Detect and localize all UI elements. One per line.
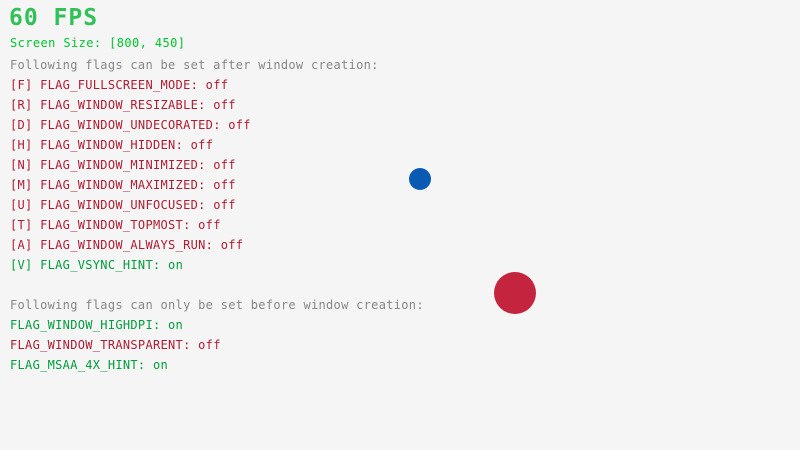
flag-separator: : xyxy=(191,78,206,92)
flag-name-label: FLAG_WINDOW_RESIZABLE xyxy=(40,98,198,112)
flag-name-label: FLAG_MSAA_4X_HINT xyxy=(10,358,138,372)
flag-row[interactable]: [A] FLAG_WINDOW_ALWAYS_RUN: off xyxy=(10,238,243,252)
flag-shortcut-key: [M] xyxy=(10,178,40,192)
flag-row[interactable]: [T] FLAG_WINDOW_TOPMOST: off xyxy=(10,218,221,232)
flag-shortcut-key: [T] xyxy=(10,218,40,232)
flag-separator: : xyxy=(198,158,213,172)
flag-name-label: FLAG_WINDOW_UNFOCUSED xyxy=(40,198,198,212)
flag-separator: : xyxy=(153,258,168,272)
flag-separator: : xyxy=(138,358,153,372)
flag-state-value: off xyxy=(213,98,236,112)
raylib-window-canvas: 60 FPS Screen Size: [800, 450] Following… xyxy=(0,0,800,450)
flag-separator: : xyxy=(198,178,213,192)
flag-name-label: FLAG_WINDOW_MAXIMIZED xyxy=(40,178,198,192)
flag-separator: : xyxy=(183,338,198,352)
flag-name-label: FLAG_FULLSCREEN_MODE xyxy=(40,78,191,92)
flag-state-value: off xyxy=(206,78,229,92)
flag-row[interactable]: [H] FLAG_WINDOW_HIDDEN: off xyxy=(10,138,213,152)
flag-row[interactable]: [N] FLAG_WINDOW_MINIMIZED: off xyxy=(10,158,236,172)
flag-shortcut-key: [H] xyxy=(10,138,40,152)
flag-shortcut-key: [D] xyxy=(10,118,40,132)
flag-shortcut-key: [U] xyxy=(10,198,40,212)
flag-state-value: off xyxy=(221,238,244,252)
flag-separator: : xyxy=(198,98,213,112)
flag-name-label: FLAG_WINDOW_UNDECORATED xyxy=(40,118,213,132)
flag-shortcut-key: [R] xyxy=(10,98,40,112)
flag-row[interactable]: FLAG_MSAA_4X_HINT: on xyxy=(10,358,168,372)
flag-row[interactable]: [R] FLAG_WINDOW_RESIZABLE: off xyxy=(10,98,236,112)
flag-state-value: off xyxy=(198,338,221,352)
flag-separator: : xyxy=(206,238,221,252)
flag-separator: : xyxy=(183,218,198,232)
flag-name-label: FLAG_WINDOW_MINIMIZED xyxy=(40,158,198,172)
flag-separator: : xyxy=(198,198,213,212)
flag-state-value: off xyxy=(213,178,236,192)
flag-name-label: FLAG_WINDOW_TRANSPARENT xyxy=(10,338,183,352)
flag-name-label: FLAG_WINDOW_TOPMOST xyxy=(40,218,183,232)
flag-state-value: off xyxy=(191,138,214,152)
flag-row[interactable]: FLAG_WINDOW_TRANSPARENT: off xyxy=(10,338,221,352)
flag-name-label: FLAG_WINDOW_HIDDEN xyxy=(40,138,175,152)
flag-row[interactable]: FLAG_WINDOW_HIGHDPI: on xyxy=(10,318,183,332)
flag-shortcut-key: [A] xyxy=(10,238,40,252)
flag-state-value: on xyxy=(168,318,183,332)
fps-counter: 60 FPS xyxy=(9,6,98,30)
flag-shortcut-key: [N] xyxy=(10,158,40,172)
flag-name-label: FLAG_WINDOW_ALWAYS_RUN xyxy=(40,238,206,252)
flag-name-label: FLAG_WINDOW_HIGHDPI xyxy=(10,318,153,332)
flag-separator: : xyxy=(213,118,228,132)
section-header-before-creation: Following flags can only be set before w… xyxy=(10,298,424,312)
flag-row[interactable]: [M] FLAG_WINDOW_MAXIMIZED: off xyxy=(10,178,236,192)
flag-shortcut-key: [V] xyxy=(10,258,40,272)
flag-separator: : xyxy=(176,138,191,152)
flag-separator: : xyxy=(153,318,168,332)
hud-overlay: 60 FPS Screen Size: [800, 450] Following… xyxy=(0,0,800,450)
flag-row[interactable]: [U] FLAG_WINDOW_UNFOCUSED: off xyxy=(10,198,236,212)
section-header-after-creation: Following flags can be set after window … xyxy=(10,58,379,72)
flag-row[interactable]: [D] FLAG_WINDOW_UNDECORATED: off xyxy=(10,118,251,132)
flag-state-value: on xyxy=(153,358,168,372)
flag-state-value: off xyxy=(228,118,251,132)
flag-state-value: off xyxy=(213,198,236,212)
flag-shortcut-key: [F] xyxy=(10,78,40,92)
flag-row[interactable]: [V] FLAG_VSYNC_HINT: on xyxy=(10,258,183,272)
flag-name-label: FLAG_VSYNC_HINT xyxy=(40,258,153,272)
screen-size-label: Screen Size: [800, 450] xyxy=(10,36,185,50)
flag-state-value: off xyxy=(198,218,221,232)
flag-row[interactable]: [F] FLAG_FULLSCREEN_MODE: off xyxy=(10,78,228,92)
flag-state-value: on xyxy=(168,258,183,272)
flag-state-value: off xyxy=(213,158,236,172)
